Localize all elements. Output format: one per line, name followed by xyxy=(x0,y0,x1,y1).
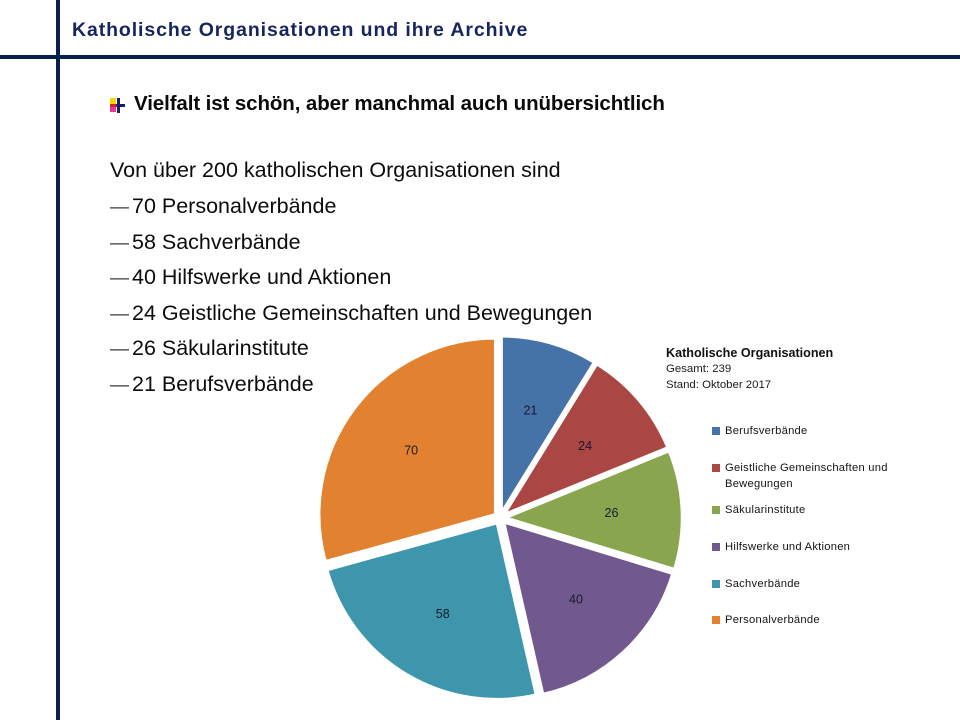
list-item-label: 58 Sachverbände xyxy=(132,230,301,255)
pie-slice-label: 26 xyxy=(605,506,619,520)
list-item-label: 26 Säkularinstitute xyxy=(132,336,309,361)
legend-item: Säkularinstitute xyxy=(712,503,927,519)
multicolor-plus-icon xyxy=(110,98,125,113)
pie-slices xyxy=(320,336,682,699)
slide-heading: Vielfalt ist schön, aber manchmal auch u… xyxy=(134,93,665,116)
list-item: — 40 Hilfswerke und Aktionen xyxy=(110,265,730,301)
pie-slice-label: 58 xyxy=(436,607,450,621)
pie-slice-label: 70 xyxy=(404,443,418,457)
list-item-label: 40 Hilfswerke und Aktionen xyxy=(132,265,391,290)
chart-subtitle-date: Stand: Oktober 2017 xyxy=(666,378,916,394)
legend-swatch xyxy=(712,427,720,435)
legend-item-label: Säkularinstitute xyxy=(725,503,806,519)
legend-item: Personalverbände xyxy=(712,613,927,629)
chart-legend: BerufsverbändeGeistliche Gemeinschaften … xyxy=(712,424,927,650)
intro-text: Von über 200 katholischen Organisationen… xyxy=(110,158,561,183)
dash-marker: — xyxy=(110,304,132,326)
legend-swatch xyxy=(712,506,720,514)
legend-swatch xyxy=(712,464,720,472)
dash-marker: — xyxy=(110,197,132,219)
page-title: Katholische Organisationen und ihre Arch… xyxy=(72,19,528,42)
legend-item: Sachverbände xyxy=(712,577,927,593)
legend-item: Hilfswerke und Aktionen xyxy=(712,540,927,556)
legend-item-label: Geistliche Gemeinschaften und Bewegungen xyxy=(725,461,927,493)
pie-slice-label: 21 xyxy=(523,404,537,418)
list-item-label: 21 Berufsverbände xyxy=(132,372,314,397)
list-item-label: 70 Personalverbände xyxy=(132,194,336,219)
legend-swatch xyxy=(712,543,720,551)
legend-swatch xyxy=(712,580,720,588)
dash-marker: — xyxy=(110,233,132,255)
legend-item-label: Sachverbände xyxy=(725,577,800,593)
chart-title-block: Katholische Organisationen Gesamt: 239 S… xyxy=(666,345,916,393)
chart-title: Katholische Organisationen xyxy=(666,345,916,362)
legend-item-label: Berufsverbände xyxy=(725,424,808,440)
list-item: — 58 Sachverbände xyxy=(110,230,730,266)
legend-item-label: Personalverbände xyxy=(725,613,820,629)
legend-item: Geistliche Gemeinschaften und Bewegungen xyxy=(712,461,927,493)
legend-item-label: Hilfswerke und Aktionen xyxy=(725,540,850,556)
dash-marker: — xyxy=(110,268,132,290)
pie-slice-label: 24 xyxy=(578,439,592,453)
chart-subtitle-total: Gesamt: 239 xyxy=(666,362,916,378)
heading-row: Vielfalt ist schön, aber manchmal auch u… xyxy=(110,93,665,116)
dash-marker: — xyxy=(110,339,132,361)
legend-swatch xyxy=(712,616,720,624)
dash-marker: — xyxy=(110,375,132,397)
list-item: — 70 Personalverbände xyxy=(110,194,730,230)
pie-slice-label: 40 xyxy=(569,593,583,607)
list-item-label: 24 Geistliche Gemeinschaften und Bewegun… xyxy=(132,301,592,326)
list-item: — 24 Geistliche Gemeinschaften und Beweg… xyxy=(110,301,730,337)
legend-item: Berufsverbände xyxy=(712,424,927,440)
horizontal-accent-rule xyxy=(0,55,960,59)
vertical-accent-rule xyxy=(56,0,60,720)
